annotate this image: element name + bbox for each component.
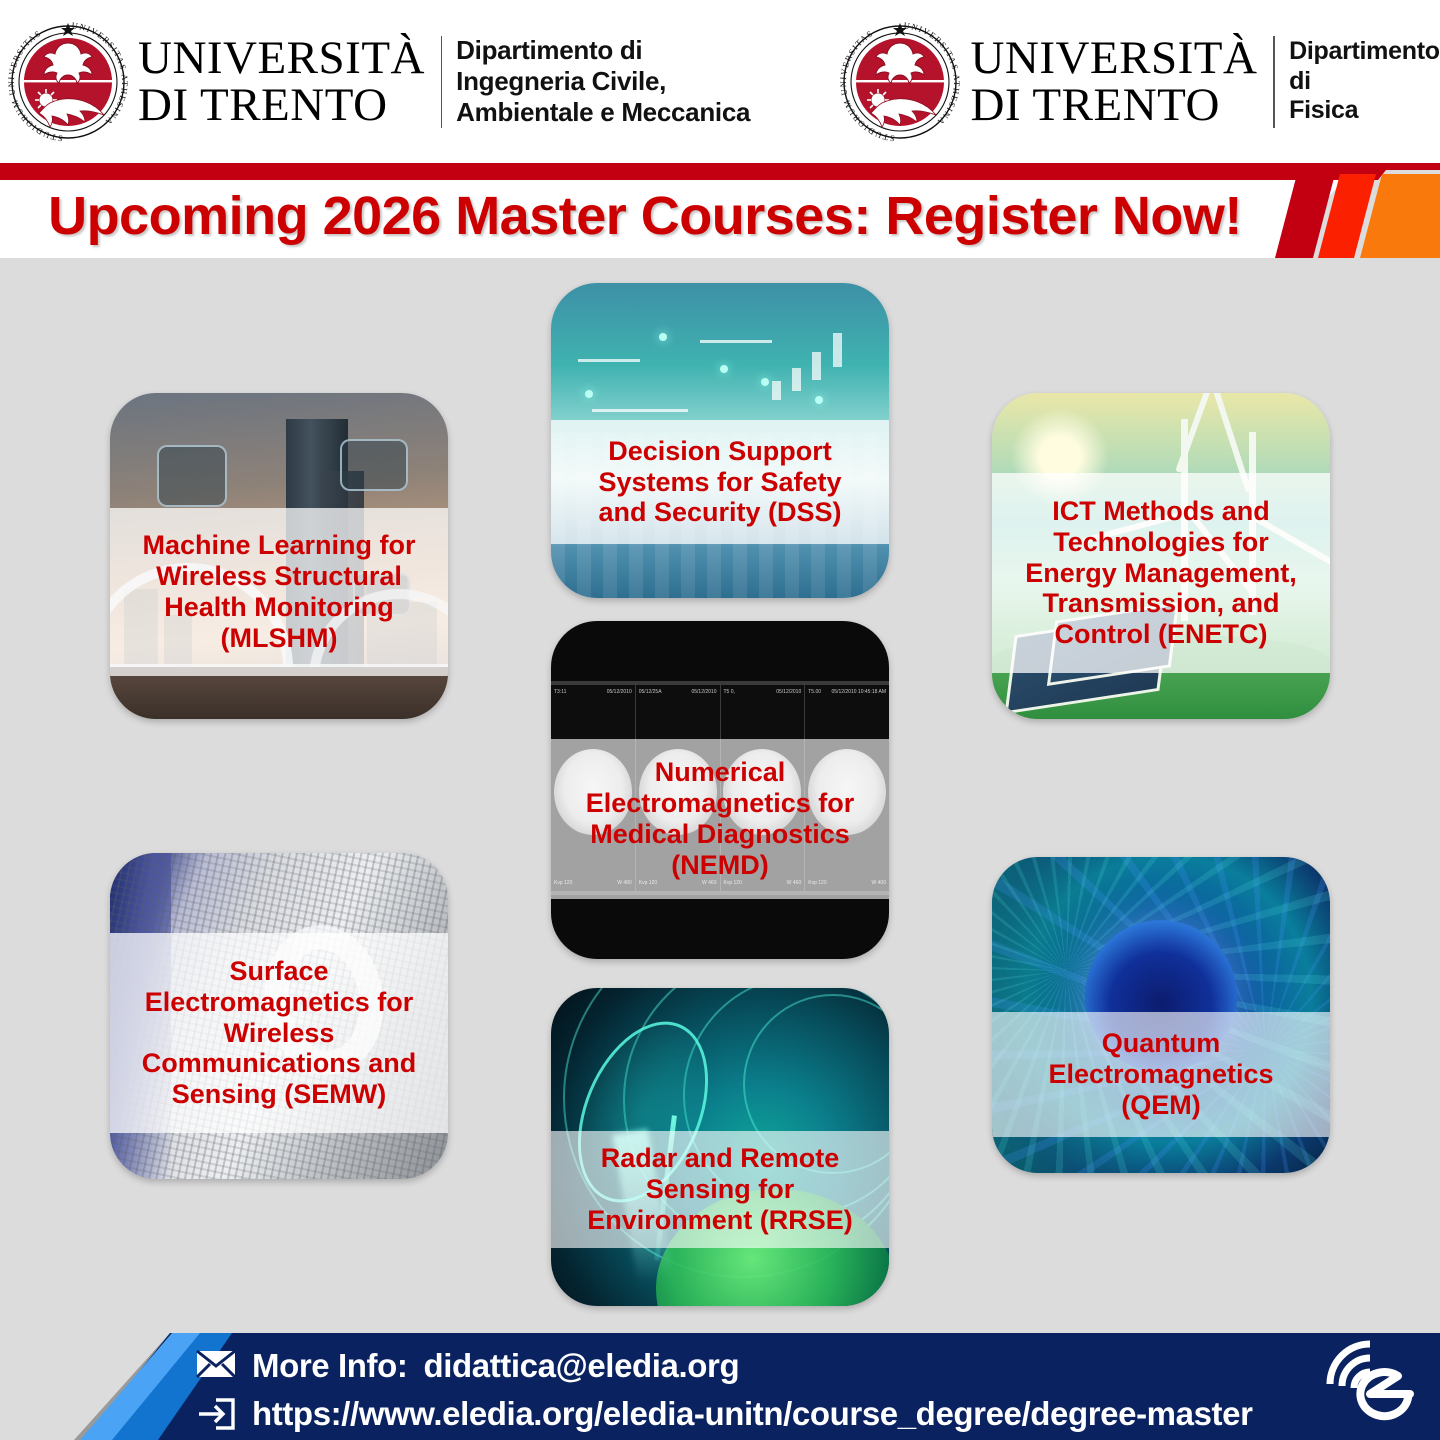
course-title-rrse: Radar and Remote Sensing for Environment… — [579, 1143, 861, 1235]
course-title-semw: Surface Electromagnetics for Wireless Co… — [134, 956, 425, 1110]
course-card-rrse[interactable]: Radar and Remote Sensing for Environment… — [551, 988, 889, 1306]
card-label-band: Numerical Electromagnetics for Medical D… — [551, 739, 889, 899]
course-card-mlshm[interactable]: Machine Learning for Wireless Structural… — [110, 393, 448, 719]
course-card-enetc[interactable]: ICT Methods and Technologies for Energy … — [992, 393, 1330, 719]
scan-meta: 05/12/2010 — [691, 689, 716, 697]
course-title-nemd: Numerical Electromagnetics for Medical D… — [578, 757, 863, 880]
scan-meta: 05/12/25A — [639, 689, 662, 697]
logo-block-fisica: UNIVERSITAS ATHESINA STUDIORUM UNIVERSIT… — [840, 17, 1440, 147]
department-line2: Ingegneria Civile, Ambientale e Meccanic… — [456, 66, 758, 127]
department-name-dicam: Dipartimento di Ingegneria Civile, Ambie… — [456, 35, 758, 127]
footer-email-row[interactable]: More Info: didattica@eledia.org — [196, 1342, 1253, 1390]
page-title: Upcoming 2026 Master Courses: Register N… — [0, 174, 1290, 258]
university-seal-icon: UNIVERSITAS ATHESINA STUDIORUM UNIVERSIT… — [840, 17, 960, 147]
department-name-fisica: Dipartimento di Fisica — [1289, 37, 1440, 126]
scan-meta: 05/12/2010 10:45:18 AM — [832, 689, 887, 697]
scan-meta: T5 0, — [724, 689, 735, 697]
scan-meta: T3:11 — [554, 689, 566, 697]
department-line1: Dipartimento di — [456, 35, 758, 66]
envelope-icon — [196, 1349, 236, 1383]
header-divider — [1273, 36, 1275, 128]
footer-more-info-label: More Info: — [252, 1347, 407, 1385]
footer-bar: More Info: didattica@eledia.org https://… — [0, 1330, 1440, 1440]
card-label-band: Decision Support Systems for Safety and … — [551, 420, 889, 544]
footer-url-row[interactable]: https://www.eledia.org/eledia-unitn/cour… — [196, 1390, 1253, 1438]
course-title-dss: Decision Support Systems for Safety and … — [590, 436, 849, 528]
logo-block-dicam: UNIVERSITAS ATHESINA STUDIORUM UNIVERSIT… — [8, 17, 758, 147]
card-label-band: Surface Electromagnetics for Wireless Co… — [110, 933, 448, 1133]
scan-meta: T5.00 — [808, 689, 821, 697]
footer-url[interactable]: https://www.eledia.org/eledia-unitn/cour… — [252, 1395, 1253, 1433]
card-label-band: ICT Methods and Technologies for Energy … — [992, 473, 1330, 673]
eledia-logo-icon — [1320, 1338, 1418, 1430]
university-wordmark: UNIVERSITÀ DI TRENTO — [970, 35, 1257, 127]
course-card-semw[interactable]: Surface Electromagnetics for Wireless Co… — [110, 853, 448, 1179]
header-bar: UNIVERSITAS ATHESINA STUDIORUM UNIVERSIT… — [0, 0, 1440, 163]
university-name-line2: DI TRENTO — [970, 82, 1257, 128]
scan-meta: 05/12/2010 — [776, 689, 801, 697]
card-label-band: Radar and Remote Sensing for Environment… — [551, 1131, 889, 1248]
card-label-band: Quantum Electromagnetics (QEM) — [992, 1012, 1330, 1137]
university-wordmark: UNIVERSITÀ DI TRENTO — [138, 35, 425, 127]
footer-contact-lines: More Info: didattica@eledia.org https://… — [196, 1342, 1253, 1438]
university-name-line1: UNIVERSITÀ — [970, 35, 1257, 81]
login-arrow-icon — [196, 1397, 236, 1431]
footer-email[interactable]: didattica@eledia.org — [423, 1347, 739, 1385]
university-name-line2: DI TRENTO — [138, 82, 425, 128]
department-line2: Fisica — [1289, 96, 1440, 126]
university-name-line1: UNIVERSITÀ — [138, 35, 425, 81]
course-card-qem[interactable]: Quantum Electromagnetics (QEM) — [992, 857, 1330, 1173]
department-line1: Dipartimento di — [1289, 37, 1440, 96]
header-divider — [441, 36, 442, 128]
header-red-rule — [0, 163, 1440, 170]
university-seal-icon: UNIVERSITAS ATHESINA STUDIORUM UNIVERSIT… — [8, 17, 128, 147]
course-title-qem: Quantum Electromagnetics (QEM) — [1040, 1028, 1281, 1120]
scan-meta: 05/12/2010 — [607, 689, 632, 697]
course-card-nemd[interactable]: T3:11 05/12/2010 Kvp 120 W 480 05/12/25A… — [551, 621, 889, 959]
title-banner: Upcoming 2026 Master Courses: Register N… — [0, 170, 1440, 262]
course-card-dss[interactable]: Decision Support Systems for Safety and … — [551, 283, 889, 598]
card-label-band: Machine Learning for Wireless Structural… — [110, 508, 448, 676]
poster-root: UNIVERSITAS ATHESINA STUDIORUM UNIVERSIT… — [0, 0, 1440, 1440]
course-title-enetc: ICT Methods and Technologies for Energy … — [1017, 496, 1305, 650]
course-title-mlshm: Machine Learning for Wireless Structural… — [134, 530, 423, 653]
